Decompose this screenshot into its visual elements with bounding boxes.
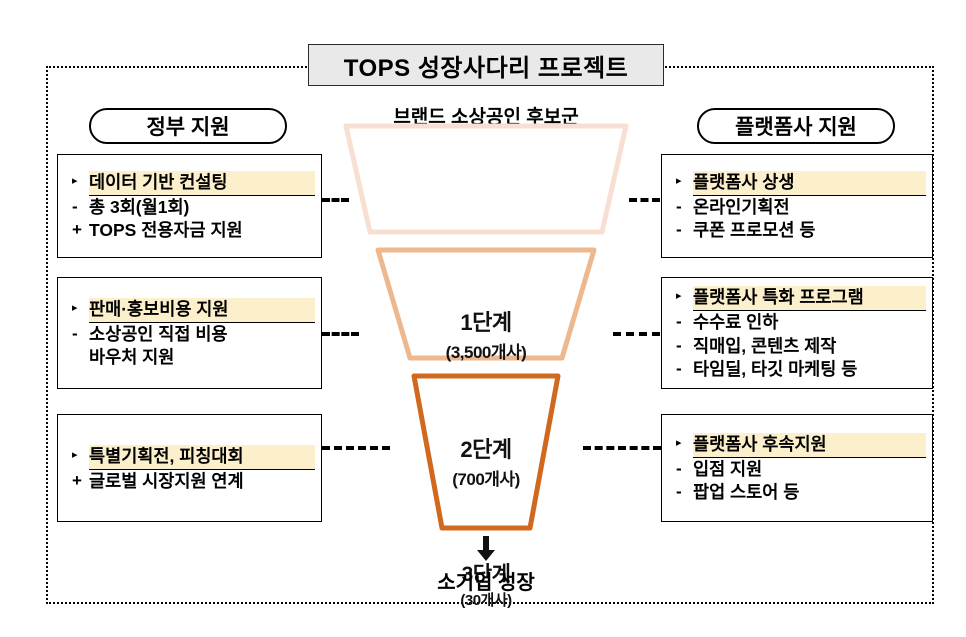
page-title: TOPS 성장사다리 프로젝트 (344, 48, 628, 83)
panel-line-marker: ▸ (676, 433, 693, 451)
panel-line-text: 타임딜, 타깃 마케팅 등 (693, 358, 926, 382)
panel-line: ▸데이터 기반 컨설팅 (58, 171, 321, 196)
panel-line: -입점 지원 (662, 458, 932, 482)
panel-line-marker: ▸ (676, 286, 693, 304)
diagram-title-box: TOPS 성장사다리 프로젝트 (308, 44, 664, 86)
panel-line-marker: ▸ (676, 171, 693, 189)
down-arrow-bottom-icon (475, 536, 497, 562)
panel-line-marker: - (676, 458, 693, 481)
funnel-stage-2-name: 2단계 (330, 432, 642, 464)
panel-line: -쿠폰 프로모션 등 (662, 219, 932, 243)
panel-line-marker: ▸ (72, 298, 89, 316)
panel-line-text: TOPS 전용자금 지원 (89, 219, 315, 243)
panel-line: ▸플랫폼사 특화 프로그램 (662, 286, 932, 311)
panel-line-text: 입점 지원 (693, 458, 926, 482)
panel-line: 바우처 지원 (58, 346, 321, 370)
panel-line: -총 3회(월1회) (58, 196, 321, 220)
panel-line-marker: ▸ (72, 445, 89, 463)
section-label-government: 정부 지원 (89, 108, 287, 144)
panel-line-text: 쿠폰 프로모션 등 (693, 219, 926, 243)
panel-platform-stage1: ▸플랫폼사 상생-온라인기획전-쿠폰 프로모션 등 (661, 154, 933, 258)
panel-line-text: 바우처 지원 (89, 346, 315, 370)
funnel-stage-1-shape (346, 126, 626, 232)
panel-government-stage2: ▸판매·홍보비용 지원-소상공인 직접 비용바우처 지원 (57, 277, 322, 389)
panel-government-stage3: ▸특별기획전, 피칭대회+글로벌 시장지원 연계 (57, 414, 322, 522)
panel-platform-stage3: ▸플랫폼사 후속지원-입점 지원-팝업 스토어 등 (661, 414, 933, 522)
panel-line-text: 팝업 스토어 등 (693, 481, 926, 505)
panel-line: -온라인기획전 (662, 196, 932, 220)
panel-line-text: 특별기획전, 피칭대회 (89, 445, 315, 470)
panel-line: ▸판매·홍보비용 지원 (58, 298, 321, 323)
panel-government-stage1: ▸데이터 기반 컨설팅-총 3회(월1회)+TOPS 전용자금 지원 (57, 154, 322, 258)
panel-line-marker: - (676, 481, 693, 504)
panel-line: ▸플랫폼사 후속지원 (662, 433, 932, 458)
section-label-platform-text: 플랫폼사 지원 (735, 111, 857, 141)
funnel-diagram: 1단계 (3,500개사) 2단계 (700개사) 3단계 (30개사) (330, 120, 642, 540)
funnel-stage-1-count: (3,500개사) (330, 338, 642, 363)
section-label-platform: 플랫폼사 지원 (697, 108, 895, 144)
section-label-government-text: 정부 지원 (146, 111, 229, 141)
panel-line: +글로벌 시장지원 연계 (58, 470, 321, 494)
panel-line-marker: - (676, 358, 693, 381)
panel-line-marker: - (676, 219, 693, 242)
panel-line: ▸플랫폼사 상생 (662, 171, 932, 196)
panel-line: -소상공인 직접 비용 (58, 323, 321, 347)
panel-line: -수수료 인하 (662, 311, 932, 335)
panel-line: -팝업 스토어 등 (662, 481, 932, 505)
panel-line-text: 수수료 인하 (693, 311, 926, 335)
panel-line-text: 플랫폼사 특화 프로그램 (693, 286, 926, 311)
panel-line: -타임딜, 타깃 마케팅 등 (662, 358, 932, 382)
panel-line-marker: - (676, 196, 693, 219)
panel-line-marker: - (676, 311, 693, 334)
panel-line-marker: + (72, 470, 89, 493)
panel-line: -직매입, 콘텐츠 제작 (662, 335, 932, 359)
funnel-stage-1-name: 1단계 (330, 305, 642, 337)
panel-line-text: 플랫폼사 후속지원 (693, 433, 926, 458)
panel-line-text: 글로벌 시장지원 연계 (89, 470, 315, 494)
funnel-stage-2-count: (700개사) (330, 465, 642, 490)
panel-platform-stage2: ▸플랫폼사 특화 프로그램-수수료 인하-직매입, 콘텐츠 제작-타임딜, 타깃… (661, 277, 933, 389)
panel-line-text: 데이터 기반 컨설팅 (89, 171, 315, 196)
panel-line-marker: - (676, 335, 693, 358)
panel-line: +TOPS 전용자금 지원 (58, 219, 321, 243)
funnel-outcome-label: 소기업 성장 (341, 566, 631, 595)
panel-line-marker: + (72, 219, 89, 242)
panel-line-marker: ▸ (72, 171, 89, 189)
panel-line-marker: - (72, 323, 89, 346)
panel-line-marker: - (72, 196, 89, 219)
panel-line-text: 직매입, 콘텐츠 제작 (693, 335, 926, 359)
funnel-stage-2-label: 2단계 (700개사) (330, 432, 642, 490)
panel-line-text: 소상공인 직접 비용 (89, 323, 315, 347)
panel-line-text: 판매·홍보비용 지원 (89, 298, 315, 323)
panel-line-text: 플랫폼사 상생 (693, 171, 926, 196)
panel-line-text: 총 3회(월1회) (89, 196, 315, 220)
panel-line-text: 온라인기획전 (693, 196, 926, 220)
funnel-stage-1-label: 1단계 (3,500개사) (330, 305, 642, 363)
panel-line: ▸특별기획전, 피칭대회 (58, 445, 321, 470)
